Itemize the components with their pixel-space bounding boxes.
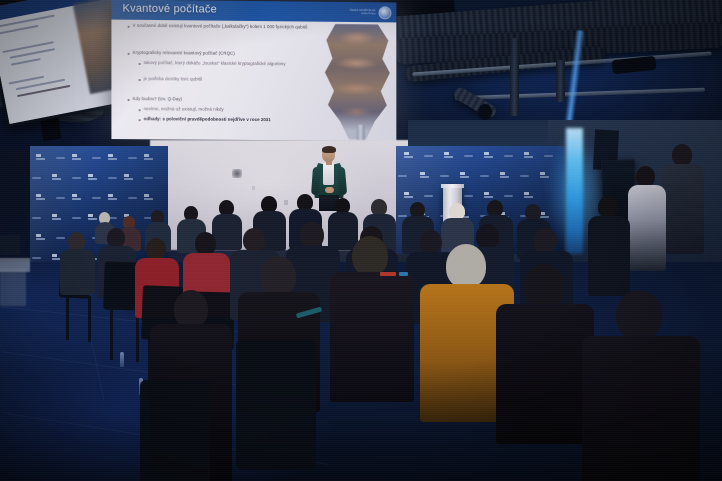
bullet-marker xyxy=(139,119,141,121)
water-bottle xyxy=(120,352,124,367)
bullet-marker xyxy=(128,26,130,28)
chair xyxy=(140,380,210,481)
slide-bullet: je potřeba desítky tisíc qubitů xyxy=(144,76,312,84)
duct-cap xyxy=(478,104,492,120)
conference-photo: Kvantové počítače ČESKÁ SPOŘITELNA Erste… xyxy=(0,0,722,481)
badge-clip xyxy=(380,272,396,276)
bullet-marker xyxy=(139,109,141,111)
cyan-uplight-column xyxy=(566,128,583,254)
bullet-marker xyxy=(139,63,141,65)
speaker-hair xyxy=(322,146,336,153)
bullet-marker xyxy=(128,53,130,55)
projected-slide: Kvantové počítače ČESKÁ SPOŘITELNA Erste… xyxy=(111,0,396,141)
wall-mark xyxy=(232,169,242,178)
chair-leg xyxy=(110,308,113,360)
ceiling-pipe-vertical xyxy=(510,38,519,116)
slide-body: V současné době existují kvantové počíta… xyxy=(111,20,396,141)
chair-leg xyxy=(66,296,69,340)
slide-bullet: Kdy budou? (tzv. Q-Day) xyxy=(133,96,311,104)
equipment-box xyxy=(0,235,20,255)
slide-title: Kvantové počítače xyxy=(123,2,217,15)
mini-slide-line xyxy=(11,58,41,66)
speaker-hands xyxy=(325,187,334,193)
speaker-arm-right xyxy=(337,167,347,196)
lectern-top xyxy=(441,184,464,188)
quantum-computer-stem xyxy=(357,125,365,141)
chair-leg xyxy=(88,296,91,342)
slide-bullet: Kryptograficky relevantní kvantový počít… xyxy=(133,50,313,58)
wall-socket xyxy=(284,200,288,205)
bullet-marker xyxy=(128,99,130,101)
bank-seal-icon xyxy=(378,6,391,19)
slide-bullet: V současné době existují kvantové počíta… xyxy=(133,23,311,31)
speaker-shirt xyxy=(323,163,334,185)
badge-clip xyxy=(399,272,408,276)
slide-logo-line-2: Erste Group xyxy=(350,12,376,16)
chair xyxy=(236,340,316,470)
slide-bullet-emphasis: odhady: s poloviční pravděpodobnosti nej… xyxy=(144,116,340,124)
slide-bullet: takový počítač, který dokáže „louskat" k… xyxy=(144,60,312,68)
mini-slide-line xyxy=(0,25,38,35)
ceiling-pipe-vertical xyxy=(556,60,565,102)
wall-plate xyxy=(252,186,255,190)
slide-bullet: nevíme, možná už existují, možná nikdy xyxy=(144,106,314,114)
bullet-marker xyxy=(139,79,141,81)
slide-logo: ČESKÁ SPOŘITELNA Erste Group xyxy=(330,4,392,21)
side-table-leg xyxy=(0,268,26,306)
